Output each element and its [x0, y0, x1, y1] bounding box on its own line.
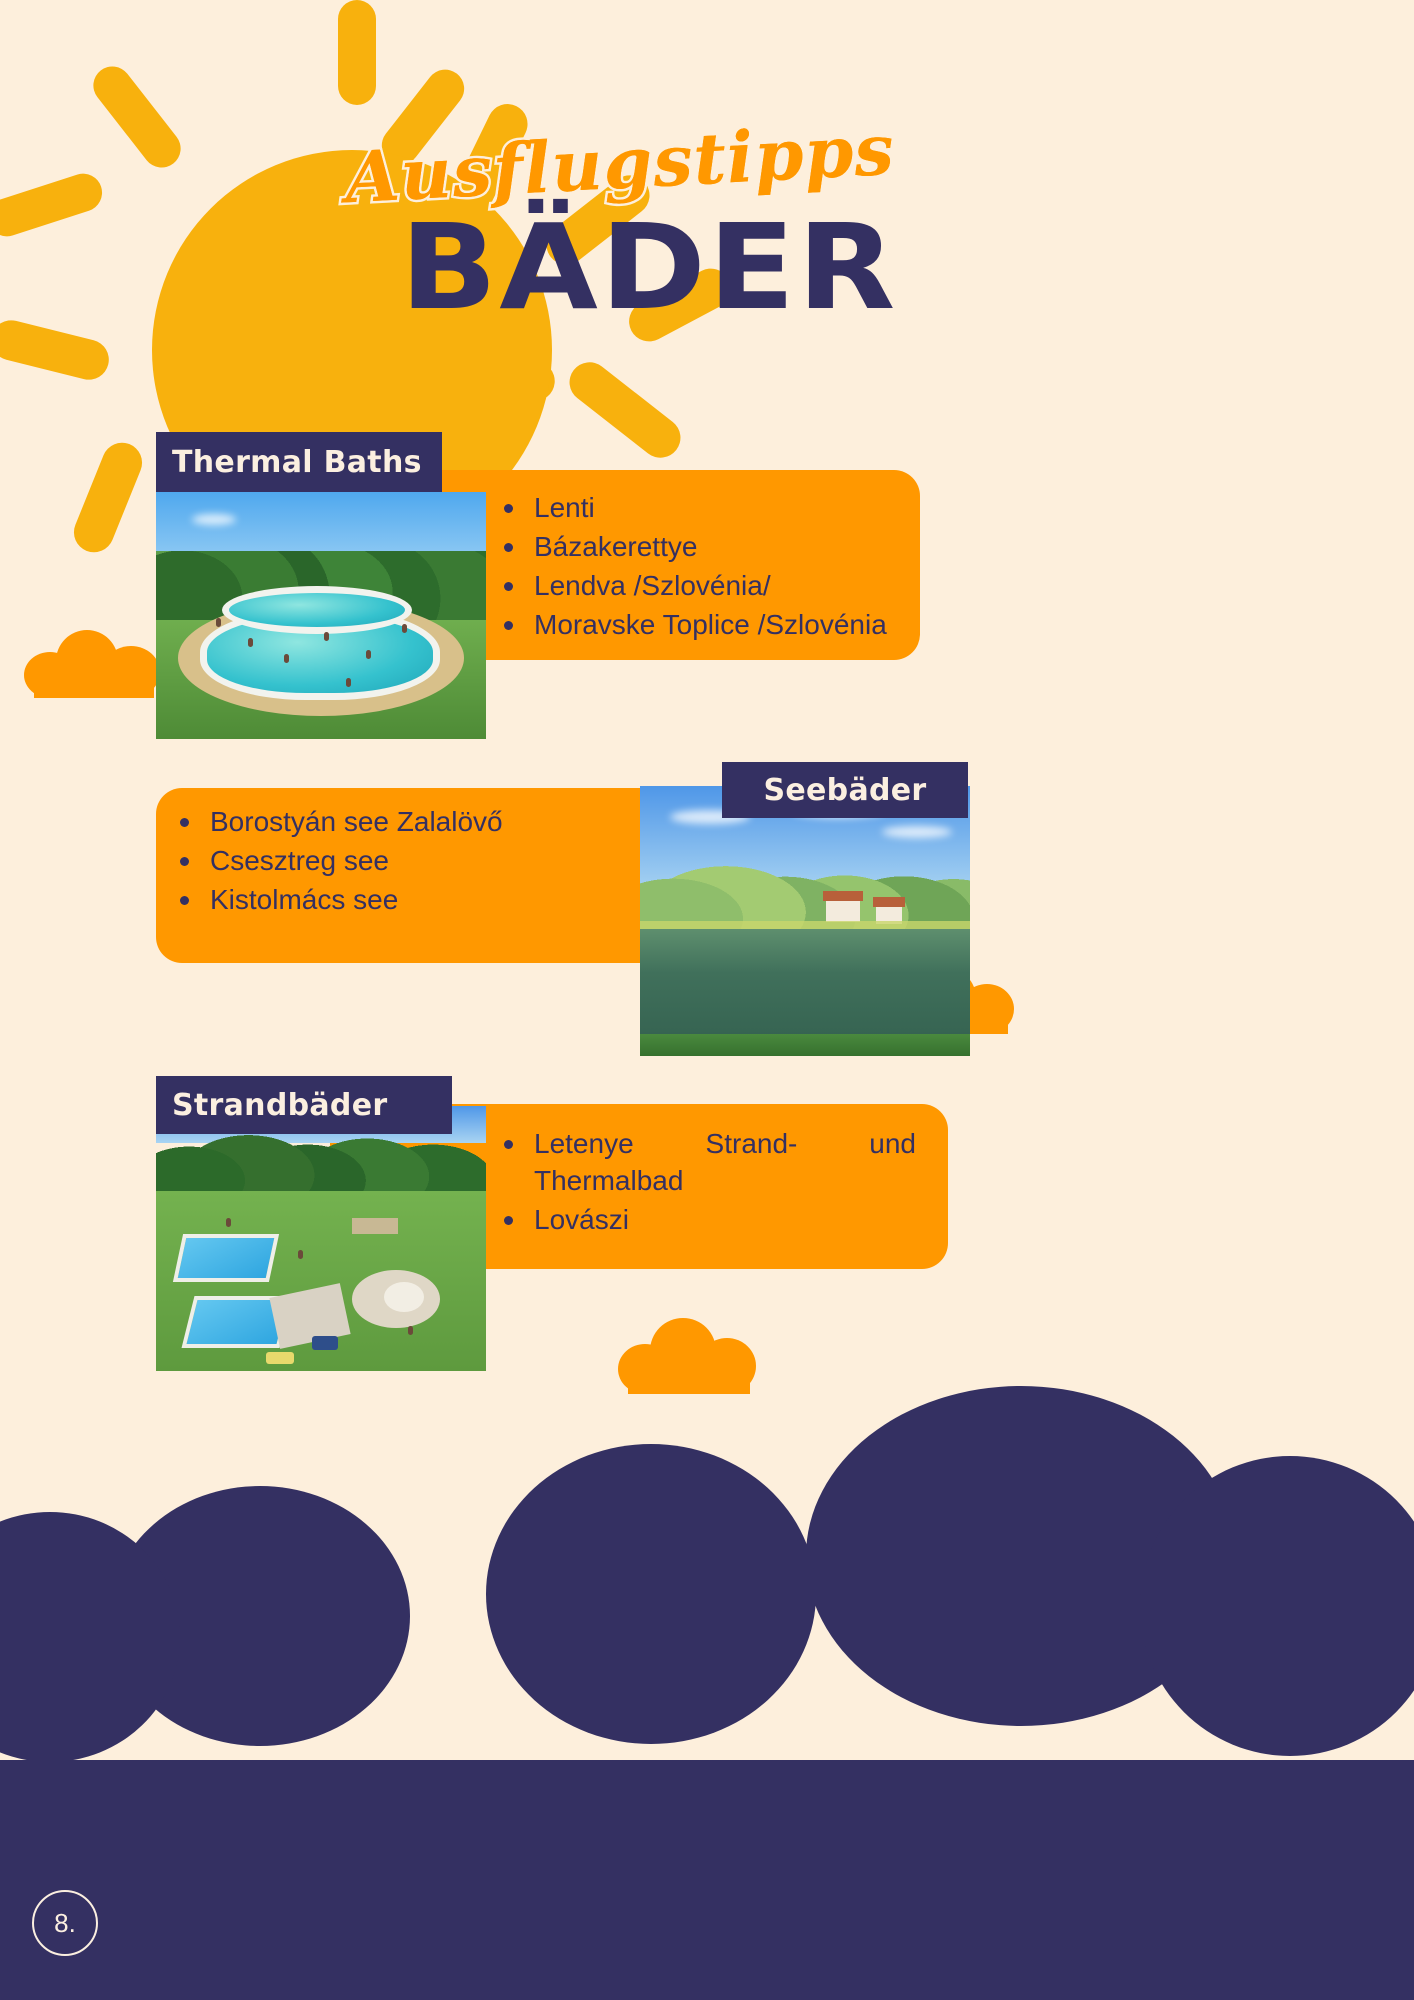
sun-ray-north [338, 0, 376, 105]
badge-strandbaeder-label: Strandbäder [172, 1088, 387, 1123]
list-item: Bázakerettye [496, 529, 916, 566]
cloud-orange-bottom [618, 1312, 758, 1394]
photo-cloud [882, 826, 952, 838]
poster-page: Ausflugstipps Ausflugstipps BÄDER [0, 0, 1414, 2000]
sun-ray-southwest [68, 437, 148, 559]
strandbaeder-list: Letenye Strand- und Thermalbad Lovászi [496, 1126, 916, 1241]
badge-seebaeder-label: Seebäder [763, 773, 926, 808]
sun-ray-west-lower [0, 316, 113, 384]
photo-pool-upper [222, 586, 412, 634]
cloud-orange-left [24, 622, 164, 696]
photo-foreground-grass [640, 1034, 970, 1056]
list-item: Lenti [496, 490, 916, 527]
seebaeder-list: Borostyán see Zalalövő Csesztreg see Kis… [172, 804, 642, 921]
photo-visitor [408, 1326, 413, 1335]
photo-sand-court [352, 1218, 398, 1234]
photo-swimmer [216, 618, 221, 627]
photo-swimmer [324, 632, 329, 641]
list-item: Lovászi [496, 1202, 916, 1239]
list-item: Letenye Strand- und Thermalbad [496, 1126, 916, 1200]
page-title: BÄDER [400, 208, 898, 326]
seebaeder-photo [640, 786, 970, 1056]
badge-seebaeder: Seebäder [722, 762, 968, 818]
sun-ray-west [0, 169, 107, 242]
badge-thermal-baths-label: Thermal Baths [172, 445, 422, 480]
photo-visitor [226, 1218, 231, 1227]
photo-swim-pool [173, 1234, 279, 1282]
page-number-badge: 8. [32, 1890, 98, 1956]
thermal-baths-list: Lenti Bázakerettye Lendva /Szlovénia/ Mo… [496, 490, 916, 646]
strandbaeder-photo [156, 1106, 486, 1371]
badge-strandbaeder: Strandbäder [156, 1076, 452, 1134]
photo-visitor [298, 1250, 303, 1259]
photo-towel [312, 1336, 338, 1350]
photo-shoreline [640, 921, 970, 929]
list-item: Moravske Toplice /Szlovénia [496, 607, 916, 644]
photo-swimmer [366, 650, 371, 659]
sun-ray-east-lower [561, 354, 688, 466]
photo-towel [266, 1352, 294, 1364]
photo-swimmer [402, 624, 407, 633]
photo-cloud [192, 514, 236, 525]
list-item: Lendva /Szlovénia/ [496, 568, 916, 605]
thermal-baths-photo [156, 492, 486, 739]
list-item: Csesztreg see [172, 843, 642, 880]
list-item: Kistolmács see [172, 882, 642, 919]
photo-swimmer [248, 638, 253, 647]
photo-swimmer [346, 678, 351, 687]
photo-house [826, 900, 860, 922]
bottom-cloud-band [0, 1760, 1414, 2000]
photo-carousel-roof [384, 1282, 424, 1312]
page-number-label: 8. [54, 1908, 76, 1939]
band-bump-far-right [1140, 1456, 1414, 1756]
badge-thermal-baths: Thermal Baths [156, 432, 442, 492]
list-item: Borostyán see Zalalövő [172, 804, 642, 841]
band-bump-center [486, 1444, 816, 1744]
photo-swimmer [284, 654, 289, 663]
sun-ray-northwest [86, 59, 189, 175]
